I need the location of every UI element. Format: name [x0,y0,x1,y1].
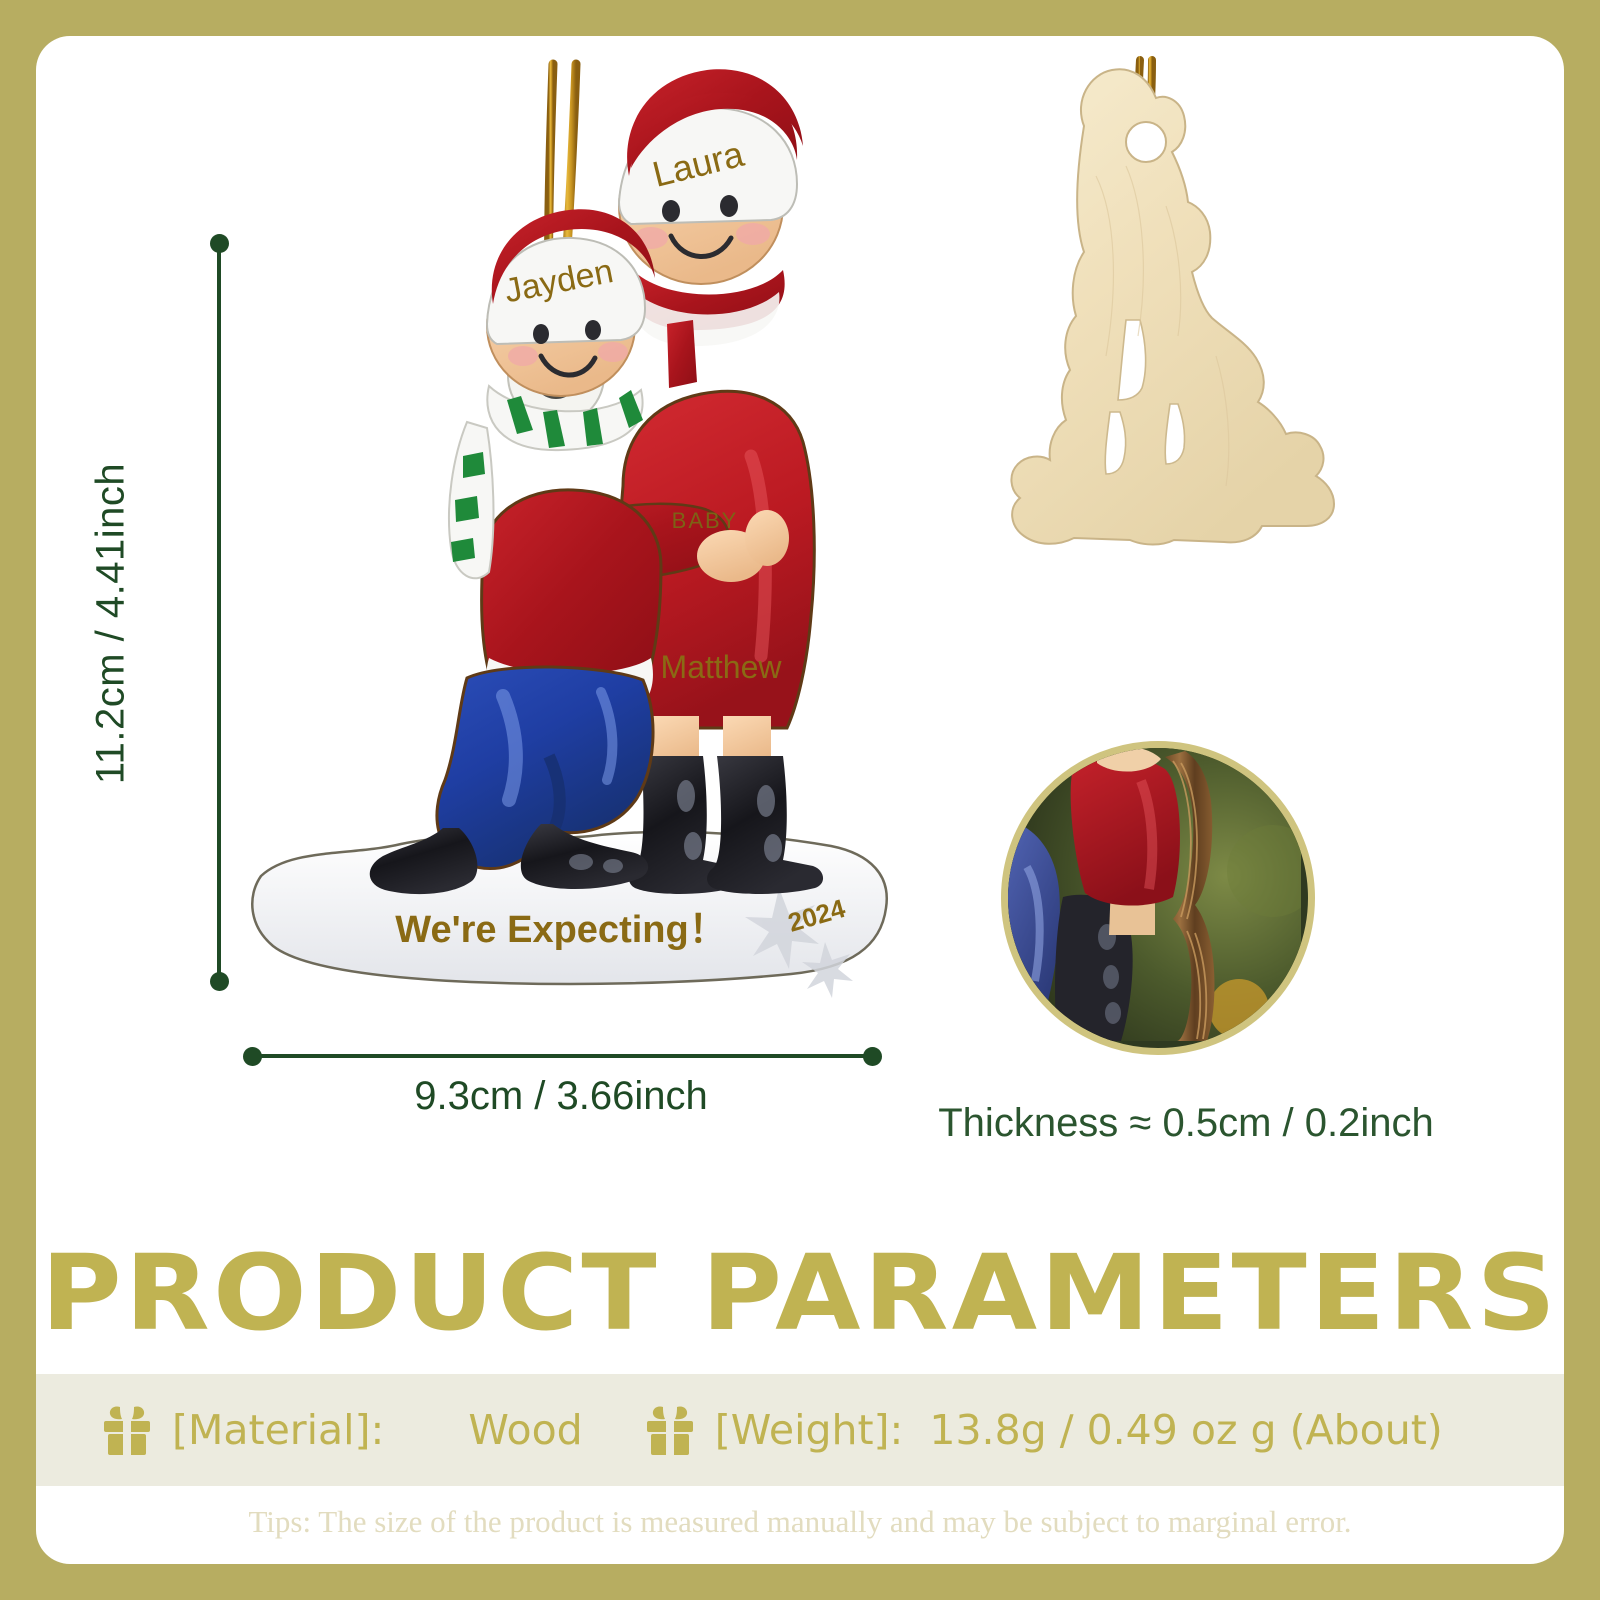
parameter-material-key: [Material]: [172,1406,384,1454]
standing-hand [745,510,789,566]
ornament-back-image [966,56,1346,586]
product-parameters-title: PRODUCT PARAMETERS [36,1232,1564,1354]
product-parameters-bar: [Material]: Wood [Weight]: 13.8g / 0.49 … [36,1374,1564,1486]
engraved-base-message: We're Expecting！ [395,909,726,951]
kneeling-boot-back [370,828,478,894]
back-view-label-group: Back [1036,611,1336,691]
outer-gold-border: Laura Jayden BABY Matthew We're Expectin… [0,0,1600,1600]
back-wood-silhouette [1011,69,1334,544]
parameter-material: [Material]: Wood [36,1374,583,1486]
parameter-weight-key: [Weight]: [715,1406,904,1454]
kneeling-figure-sweater [482,490,661,686]
engraved-baby-text: BABY [672,508,739,533]
width-guide-line [251,1054,871,1058]
footer-tips: Tips: The size of the product is measure… [36,1504,1564,1540]
product-infographic-card: Laura Jayden BABY Matthew We're Expectin… [36,36,1564,1564]
gift-icon [643,1403,697,1457]
width-guide-dot-right [863,1047,882,1066]
height-dimension-label: 11.2cm / 4.41inch [89,324,134,924]
back-hanging-hole [1126,122,1166,162]
parameter-material-value: Wood [468,1406,582,1454]
parameter-weight: [Weight]: 13.8g / 0.49 oz g (About) [583,1374,1443,1486]
height-guide-line [217,241,221,981]
thickness-closeup-photo [1001,741,1315,1055]
ornament-front-image: Laura Jayden BABY Matthew We're Expectin… [231,56,911,1016]
engraved-dress-name: Matthew [661,649,783,685]
standing-boot-right [707,756,823,894]
gift-icon [100,1403,154,1457]
parameter-weight-value: 13.8g / 0.49 oz g (About) [929,1406,1442,1454]
width-dimension-label: 9.3cm / 3.66inch [251,1074,871,1119]
thickness-label: Thickness ≈ 0.5cm / 0.2inch [916,1101,1456,1146]
height-guide-dot-bottom [210,972,229,991]
